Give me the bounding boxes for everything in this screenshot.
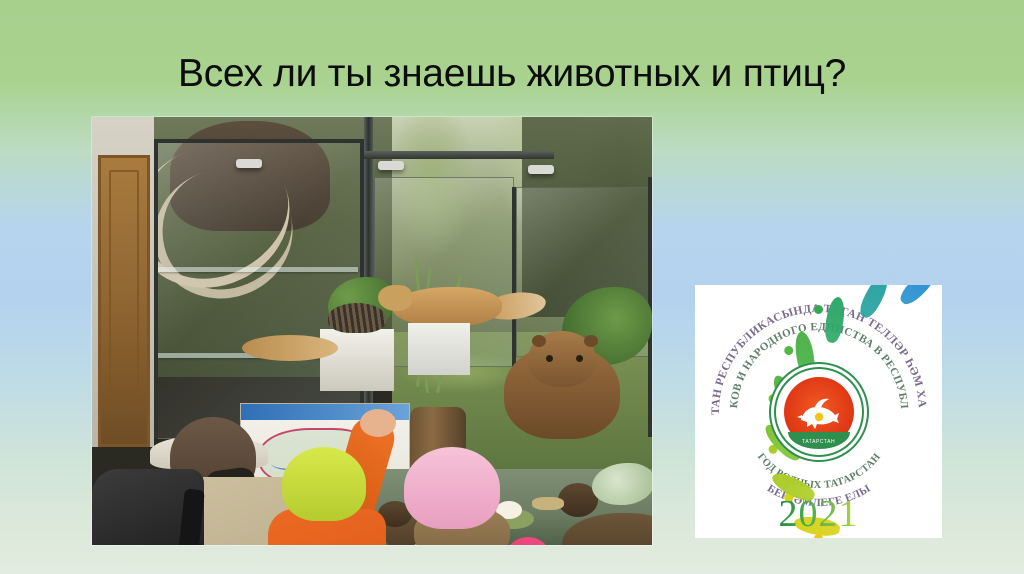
taxidermy-fox-second (242, 335, 338, 361)
beaver-ear (532, 335, 546, 347)
wooden-door (98, 155, 150, 447)
spotlight-icon (378, 161, 404, 170)
case-frame-bar (154, 139, 364, 143)
fox-head (378, 285, 412, 311)
case-frame-bar (512, 187, 516, 367)
child-pink-hat (404, 447, 500, 529)
white-planter (320, 329, 394, 391)
spotlight-icon (528, 165, 554, 174)
display-shelf (158, 267, 358, 272)
leaf-cluster (592, 463, 652, 505)
child-lime-hat (282, 447, 366, 521)
beaver-ear (584, 335, 598, 347)
beaver-eye (576, 355, 583, 362)
museum-photo (92, 117, 652, 545)
case-frame-bar (154, 139, 158, 439)
hedgehog-mount (328, 303, 386, 333)
child-pointing-hand (360, 409, 396, 437)
glass-display-case (154, 139, 364, 439)
page-title: Всех ли ты знаешь животных и птиц? (0, 52, 1024, 96)
emblem-head-dot (814, 305, 823, 314)
duck-bill (532, 497, 564, 510)
beaver-eye (546, 355, 553, 362)
winged-snow-leopard-icon (793, 396, 845, 430)
light-track-arm (364, 151, 554, 159)
tatarstan-year-logo-card: ТАТАРСТАН РЕСПУБЛИКАСЫНДА ТУГАН ТЕЛЛӘР Һ… (695, 285, 942, 538)
emblem-petal (940, 285, 942, 307)
coa-red-field: ТАТАРСТАН (784, 377, 854, 447)
spotlight-icon (236, 159, 262, 168)
exhibit-pedestal (408, 323, 470, 375)
logo-year-label: 2021 (775, 492, 863, 536)
tatarstan-coat-of-arms: ТАТАРСТАН (776, 369, 862, 455)
coa-caption-band: ТАТАРСТАН (788, 432, 850, 449)
